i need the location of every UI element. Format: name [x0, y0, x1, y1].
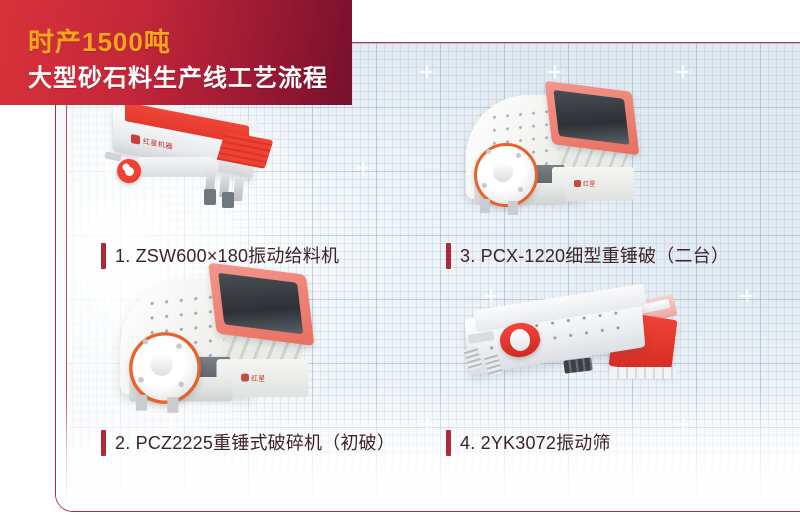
product-item-3[interactable]: 红星 3. PCX-1220细型重锤破（二台） [446, 83, 786, 280]
label-accent-bar [101, 430, 106, 456]
product-label-4: 4. 2YK3072振动筛 [446, 430, 611, 456]
vibrating-screen-illustration [460, 275, 680, 393]
product-image-2: 红星 [109, 265, 305, 393]
brand-logo-text: 红星 [251, 376, 265, 383]
product-name-3: 3. PCX-1220细型重锤破（二台） [460, 247, 729, 265]
title-banner: 时产1500吨 大型砂石料生产线工艺流程 [0, 0, 352, 105]
brand-logo-text: 红星 [583, 182, 596, 188]
product-grid: 红星机器 1. ZSW600×180振动给料机 [56, 43, 800, 511]
product-name-4: 4. 2YK3072振动筛 [460, 434, 611, 452]
label-accent-bar [446, 430, 451, 456]
product-image-1: 红星机器 [101, 95, 281, 205]
brand-logo-icon: 红星 [574, 179, 596, 188]
hammer-crusher-illustration: 红星 [109, 265, 329, 408]
banner-line-1: 时产1500吨 [28, 22, 171, 59]
hammer-crusher-illustration: 红星 [456, 83, 652, 211]
product-name-2: 2. PCZ2225重锤式破碎机（初破） [115, 434, 395, 452]
product-label-2: 2. PCZ2225重锤式破碎机（初破） [101, 430, 395, 456]
product-image-3: 红星 [456, 83, 652, 211]
banner-line-2: 大型砂石料生产线工艺流程 [28, 58, 328, 93]
product-item-2[interactable]: 红星 2. PCZ2225重锤式破碎机（初破） [101, 265, 441, 465]
vibrating-feeder-illustration: 红星机器 [101, 95, 281, 205]
content-card: 红星机器 1. ZSW600×180振动给料机 [55, 42, 800, 512]
product-name-1: 1. ZSW600×180振动给料机 [115, 247, 339, 265]
product-label-3: 3. PCX-1220细型重锤破（二台） [446, 243, 729, 269]
product-image-4 [460, 275, 680, 393]
label-accent-bar [446, 243, 451, 269]
brand-logo-icon: 红星 [241, 373, 265, 383]
product-item-1[interactable]: 红星机器 1. ZSW600×180振动给料机 [101, 95, 421, 280]
product-item-4[interactable]: 4. 2YK3072振动筛 [446, 275, 786, 465]
poster-canvas: 红星机器 1. ZSW600×180振动给料机 [0, 0, 800, 530]
